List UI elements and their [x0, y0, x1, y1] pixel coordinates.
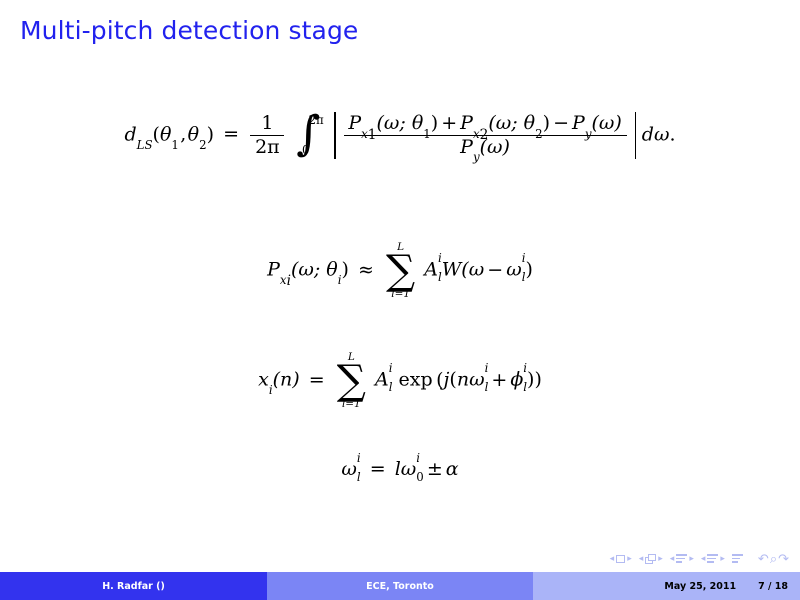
- forward-arrow-icon[interactable]: ↷: [778, 551, 790, 566]
- eq2-P-sub-i: i: [287, 273, 291, 289]
- presentation-icon[interactable]: [732, 554, 743, 562]
- eq2-A: A: [424, 259, 438, 281]
- eq2-W-omega-indices: lil: [522, 259, 526, 281]
- eq1-abs-bar-right: [635, 112, 637, 159]
- eq1-num-P1-arg: (ω; θ: [376, 112, 423, 134]
- eq2-A-indices: lil: [438, 259, 442, 281]
- eq2-summation: L ∑ l=1: [386, 242, 415, 299]
- eq4-equals: =: [367, 458, 389, 480]
- next-slide-icon[interactable]: ▸: [627, 554, 632, 563]
- eq2-W-omega-sub: l: [522, 270, 526, 284]
- eq1-minus: −: [550, 112, 572, 134]
- next-frame-icon[interactable]: ▸: [658, 554, 663, 563]
- eq2-P-arg: (ω; θ: [291, 259, 338, 281]
- eq1-theta2: θ: [188, 123, 199, 145]
- eq4-omega0-sub: 0: [416, 470, 424, 484]
- eq1-num-P2-arg-close: ): [543, 112, 550, 134]
- eq3-A-indices: lil: [389, 369, 393, 391]
- nav-group-presentation[interactable]: [732, 554, 743, 562]
- eq1-integral-lower-limit: 0: [302, 143, 310, 157]
- nav-group-history[interactable]: ↶⌕↷: [758, 552, 790, 565]
- eq1-prefactor-denominator: 2π: [250, 135, 284, 158]
- equation-signal-model: xi(n) = L ∑ l=1 Alil exp(j(nωlil+ϕlil)): [0, 352, 800, 409]
- eq1-num-P2-sub: x: [473, 127, 480, 141]
- eq3-A-sup: i: [389, 361, 393, 375]
- eq1-prefactor-fraction: 1 2π: [250, 112, 284, 158]
- eq4-omega: ω: [341, 458, 357, 480]
- eq4-omega0-indices: 0i0: [416, 458, 424, 480]
- back-arrow-icon[interactable]: ↶: [758, 551, 770, 566]
- eq1-num-Py-sub: y: [585, 127, 592, 141]
- nav-group-frame[interactable]: ◂ ▸: [639, 554, 663, 564]
- nav-group-slide[interactable]: ◂ ▸: [610, 554, 632, 563]
- summation-icon: ∑: [337, 363, 366, 398]
- footer-institute-segment: ECE, Toronto: [267, 572, 533, 600]
- eq3-summation: L ∑ l=1: [337, 352, 366, 409]
- eq2-W-minus: −: [484, 259, 506, 281]
- slide-icon[interactable]: [616, 555, 625, 563]
- eq1-theta1: θ: [160, 123, 171, 145]
- eq4-plus-minus: ±: [424, 458, 446, 480]
- footer-institute: ECE, Toronto: [366, 581, 434, 592]
- eq3-n: n: [457, 369, 469, 391]
- eq2-P-arg-sub: i: [338, 273, 342, 287]
- eq3-x: x: [258, 369, 269, 391]
- eq4-omega0: ω: [401, 458, 417, 480]
- equation-least-squares-distance: dLS(θ1,θ2) = 1 2π ∫ 2π 0 Px1(ω; θ1)+Px2(…: [0, 112, 800, 159]
- eq1-num-Py-arg: (ω): [591, 112, 621, 134]
- eq2-W-omega-sup: i: [522, 251, 526, 265]
- eq1-numerator: Px1(ω; θ1)+Px2(ω; θ2)−Py(ω): [344, 112, 627, 134]
- eq3-A-sub: l: [389, 380, 393, 394]
- equation-harmonic-frequencies: ωlil = lω0i0±α: [0, 458, 800, 480]
- eq1-d: d: [125, 123, 137, 145]
- prev-slide-icon[interactable]: ◂: [610, 554, 615, 563]
- eq3-omega-indices: lil: [485, 369, 489, 391]
- eq3-x-arg: (n): [273, 369, 300, 391]
- eq1-integral-upper-limit: 2π: [309, 113, 324, 127]
- eq2-A-sub: l: [438, 270, 442, 284]
- eq1-theta2-sub: 2: [199, 138, 207, 152]
- eq2-W-open: (ω: [461, 259, 484, 281]
- eq1-num-P2-arg-sub: 2: [535, 127, 543, 141]
- eq2-W: W: [442, 259, 462, 281]
- eq1-plus: +: [438, 112, 460, 134]
- footer-author: H. Radfar (): [102, 581, 165, 592]
- eq3-omega-sup: i: [485, 361, 489, 375]
- summation-icon: ∑: [386, 253, 415, 288]
- beamer-navigation-bar[interactable]: ◂ ▸ ◂ ▸ ◂ ▸ ◂ ▸ ↶⌕↷: [610, 552, 790, 565]
- eq2-P: P: [267, 259, 280, 281]
- nav-group-section[interactable]: ◂ ▸: [701, 554, 725, 563]
- eq1-den-Py-sub: y: [473, 150, 480, 164]
- eq3-equals: =: [306, 369, 328, 391]
- eq3-close-paren-1: ): [534, 369, 541, 391]
- prev-frame-icon[interactable]: ◂: [639, 554, 644, 563]
- page-title: Multi-pitch detection stage: [20, 16, 358, 45]
- eq1-num-P2-subidx: 2: [480, 127, 489, 143]
- eq1-num-P1: P: [348, 112, 361, 134]
- subsection-icon[interactable]: [676, 554, 687, 562]
- eq3-plus: +: [488, 369, 510, 391]
- eq3-exp: exp: [399, 369, 433, 391]
- eq1-num-Py: P: [572, 112, 585, 134]
- footer-author-segment: H. Radfar (): [0, 572, 267, 600]
- eq1-integral: ∫ 2π 0: [296, 117, 320, 154]
- eq1-abs-bar-left: [334, 112, 336, 159]
- next-subsection-icon[interactable]: ▸: [689, 554, 694, 563]
- eq2-W-close: ): [525, 259, 532, 281]
- nav-group-subsection[interactable]: ◂ ▸: [670, 554, 694, 563]
- eq2-W-omega: ω: [506, 259, 522, 281]
- eq1-num-P2: P: [460, 112, 473, 134]
- slide-footer: H. Radfar () ECE, Toronto May 25, 2011 7…: [0, 572, 800, 600]
- eq1-period: .: [669, 123, 675, 145]
- eq1-num-P1-subidx: 1: [368, 127, 377, 143]
- eq3-phi-indices: lil: [523, 369, 527, 391]
- search-icon[interactable]: ⌕: [770, 551, 778, 566]
- eq3-open-paren-2: (: [449, 369, 456, 391]
- eq2-approx: ≈: [355, 259, 377, 281]
- footer-date: May 25, 2011: [664, 581, 736, 592]
- footer-date-page-segment: May 25, 2011 7 / 18: [533, 572, 800, 600]
- prev-section-icon[interactable]: ◂: [701, 554, 706, 563]
- eq4-omega-sup: i: [357, 451, 361, 465]
- eq1-comma: ,: [179, 123, 188, 145]
- eq2-P-sub-x: x: [280, 273, 287, 287]
- eq2-A-sup: i: [438, 251, 442, 265]
- eq3-phi-sub: l: [523, 380, 527, 394]
- eq3-omega: ω: [469, 369, 485, 391]
- eq1-num-P1-sub: x: [361, 127, 368, 141]
- eq4-alpha: α: [446, 458, 459, 480]
- eq1-num-P2-arg: (ω; θ: [488, 112, 535, 134]
- eq3-x-sub: i: [269, 383, 273, 397]
- eq1-close-paren: ): [207, 123, 214, 145]
- eq3-A: A: [375, 369, 389, 391]
- eq3-open-paren-1: (: [433, 369, 444, 391]
- eq3-omega-sub: l: [485, 380, 489, 394]
- eq1-main-fraction: Px1(ω; θ1)+Px2(ω; θ2)−Py(ω) Py(ω): [344, 112, 627, 158]
- prev-subsection-icon[interactable]: ◂: [670, 554, 675, 563]
- eq1-d-subscript: LS: [137, 138, 153, 152]
- eq1-num-P1-arg-sub: 1: [423, 127, 431, 141]
- eq4-omega-indices: lil: [357, 458, 361, 480]
- eq1-domega: dω: [642, 123, 670, 145]
- eq2-P-arg-close: ): [342, 259, 349, 281]
- section-icon[interactable]: [707, 554, 718, 562]
- eq1-open-paren: (: [153, 123, 160, 145]
- frame-icon[interactable]: [645, 554, 656, 564]
- next-section-icon[interactable]: ▸: [720, 554, 725, 563]
- eq3-phi: ϕ: [510, 369, 523, 391]
- eq4-omega-sub: l: [357, 470, 361, 484]
- eq3-phi-sup: i: [523, 361, 527, 375]
- eq1-prefactor-numerator: 1: [250, 112, 284, 134]
- footer-page-number: 7 / 18: [758, 581, 788, 592]
- equation-spectrum-model: Pxi(ω; θi) ≈ L ∑ l=1 AlilW(ω−ωlil): [0, 242, 800, 299]
- eq1-theta1-sub: 1: [171, 138, 179, 152]
- eq4-omega0-sup: i: [416, 451, 420, 465]
- eq1-den-Py: P: [460, 136, 473, 158]
- slide-content: dLS(θ1,θ2) = 1 2π ∫ 2π 0 Px1(ω; θ1)+Px2(…: [0, 90, 800, 540]
- eq1-equals: =: [220, 123, 242, 145]
